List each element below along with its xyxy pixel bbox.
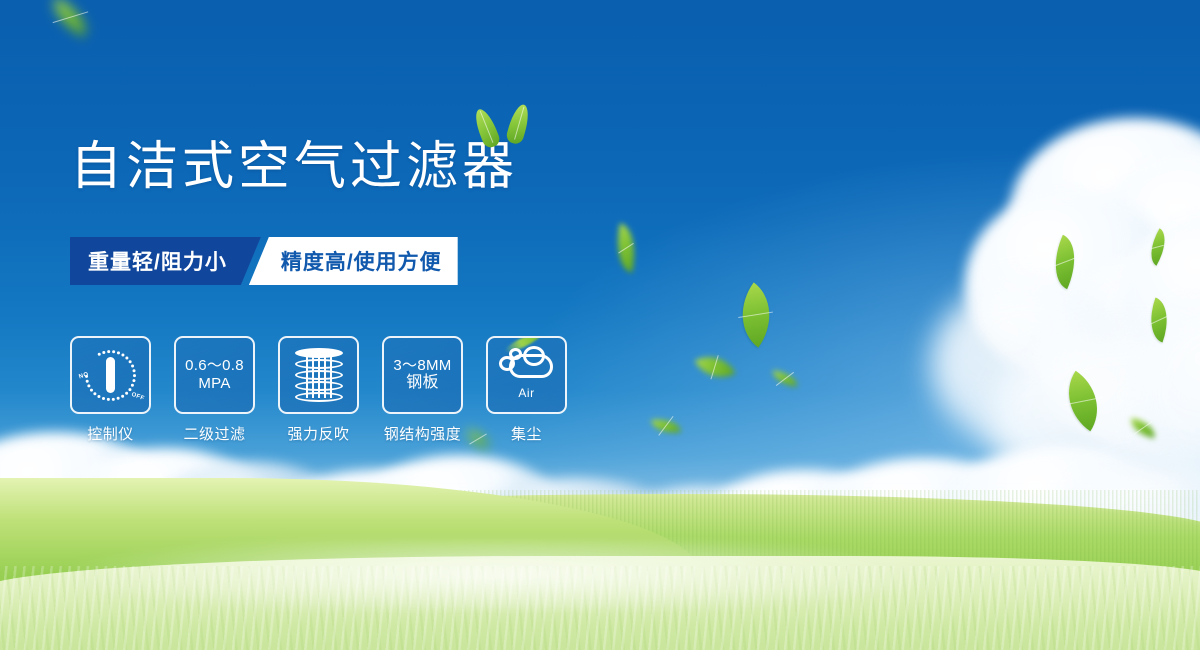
gauge-tick: [90, 388, 93, 391]
cartridge-ring: [295, 348, 343, 358]
gauge-tick: [117, 351, 120, 354]
cloud-puff: [509, 348, 522, 360]
cartridge-ring: [295, 381, 343, 391]
page-title: 自洁式空气过滤器: [70, 140, 518, 195]
feature-label: 控制仪: [70, 423, 151, 444]
gauge-tick: [129, 360, 132, 363]
feature-label: 强力反吹: [278, 423, 359, 444]
feature-icon-box: NO OFF: [70, 336, 151, 414]
floating-leaf: [771, 370, 799, 386]
steel-plate-label: 钢板: [406, 374, 439, 393]
pressure-unit: MPA: [198, 375, 230, 393]
gauge-tick: [87, 384, 90, 387]
grass-highlight: [0, 540, 1200, 610]
feature-label: 二级过滤: [174, 423, 255, 444]
gauge-tick: [97, 395, 100, 398]
gauge-tick: [86, 379, 89, 382]
cartridge-ring: [295, 370, 343, 380]
title-block: 自洁式空气过滤器: [70, 140, 518, 195]
feature-label: 钢结构强度: [382, 423, 463, 444]
cloud-bump: [523, 346, 545, 366]
subtitle-right: 精度高/使用方便: [249, 237, 458, 285]
gauge-icon: NO OFF: [83, 348, 139, 402]
subtitle-bar: 重量轻/阻力小 精度高/使用方便: [70, 237, 458, 285]
feature-item-controller[interactable]: NO OFF 控制仪: [70, 336, 151, 444]
feature-item-filtration[interactable]: 0.6～0.8 MPA 二级过滤: [174, 336, 255, 444]
feature-icon-box: [278, 336, 359, 414]
gauge-tick: [121, 353, 124, 356]
hero-banner: 自洁式空气过滤器 重量轻/阻力小 精度高/使用方便 NO OFF 控制仪 0.6…: [0, 0, 1200, 650]
cartridge-ring: [295, 359, 343, 369]
gauge-tick: [112, 397, 115, 400]
gauge-tick: [107, 350, 110, 353]
steel-thickness: 3～8MM: [393, 357, 451, 375]
feature-icon-box: Air: [486, 336, 567, 414]
gauge-tick: [132, 379, 135, 382]
gauge-tick: [133, 369, 136, 372]
cloud-air-icon: Air: [497, 344, 557, 388]
feature-icon-box: 0.6～0.8 MPA: [174, 336, 255, 414]
feature-item-steel[interactable]: 3～8MM 钢板 钢结构强度: [382, 336, 463, 444]
feature-item-dust[interactable]: Air 集尘: [486, 336, 567, 444]
gauge-tick: [128, 388, 131, 391]
gauge-tick: [112, 350, 115, 353]
pressure-value: 0.6～0.8: [185, 357, 244, 375]
air-label: Air: [497, 386, 557, 400]
gauge-tick: [98, 352, 101, 355]
gauge-tick: [107, 397, 110, 400]
gauge-tick: [121, 394, 124, 397]
gauge-tick: [93, 392, 96, 395]
sprout-leaves-icon: [472, 104, 552, 150]
gauge-tick: [125, 391, 128, 394]
gauge-tick: [102, 350, 105, 353]
feature-item-backblow[interactable]: 强力反吹: [278, 336, 359, 444]
cartridge-ring: [295, 392, 343, 402]
feature-list: NO OFF 控制仪 0.6～0.8 MPA 二级过滤: [70, 336, 567, 444]
gauge-tick: [131, 364, 134, 367]
gauge-tick: [133, 374, 136, 377]
feature-label: 集尘: [486, 423, 567, 444]
gauge-needle: [106, 357, 115, 393]
gauge-tick: [117, 396, 120, 399]
gauge-tick: [102, 396, 105, 399]
subtitle-left: 重量轻/阻力小: [70, 237, 261, 285]
feature-icon-box: 3～8MM 钢板: [382, 336, 463, 414]
filter-cartridge-icon: [293, 346, 345, 404]
gauge-tick: [125, 356, 128, 359]
gauge-tick: [131, 383, 134, 386]
